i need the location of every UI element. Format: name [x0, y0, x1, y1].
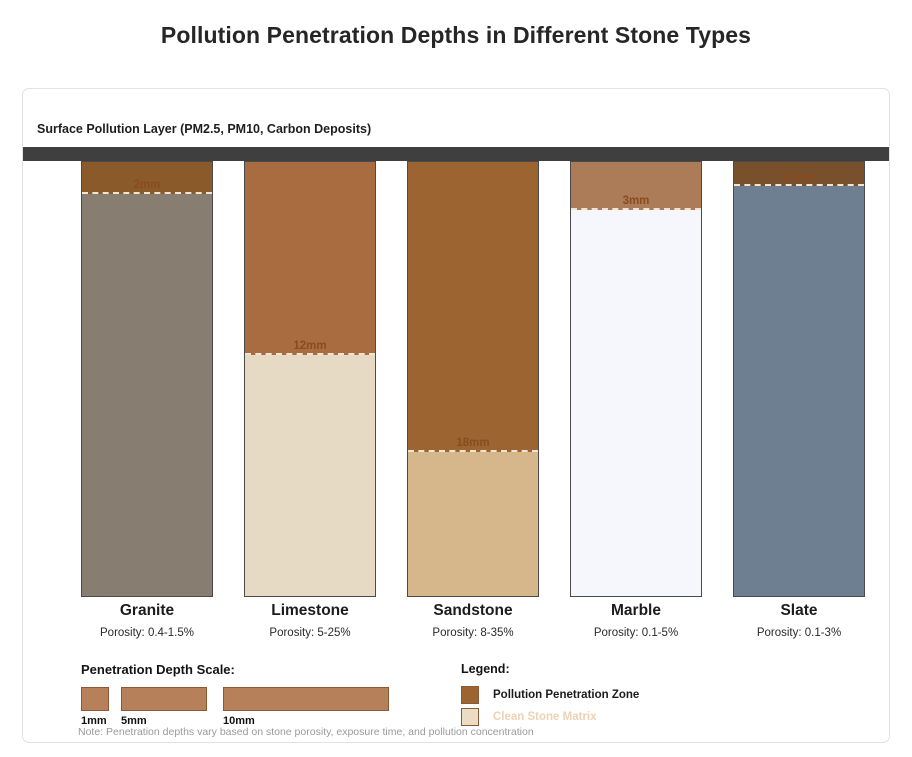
stone-porosity: Porosity: 0.1-5% [561, 624, 711, 642]
pollution-penetration-zone: 1.5mm [734, 162, 864, 186]
pollution-penetration-zone: 2mm [82, 162, 212, 194]
stone-column-slate[interactable]: 1.5mm [733, 161, 865, 597]
stone-columns: 2mm12mm18mm3mm1.5mm [23, 161, 889, 597]
scale-title: Penetration Depth Scale: [81, 662, 441, 677]
chart-page: Pollution Penetration Depths in Differen… [0, 0, 912, 757]
stone-porosity: Porosity: 0.4-1.5% [72, 624, 222, 642]
clean-stone-matrix [734, 184, 864, 596]
legend-items: Pollution Penetration ZoneClean Stone Ma… [461, 684, 639, 728]
legend-title: Legend: [461, 662, 639, 676]
stone-caption-limestone: LimestonePorosity: 5-25% [235, 601, 385, 642]
stone-column-sandstone[interactable]: 18mm [407, 161, 539, 597]
stone-name: Marble [561, 601, 711, 621]
clean-stone-matrix [245, 353, 375, 596]
stone-name: Sandstone [398, 601, 548, 621]
legend-item[interactable]: Pollution Penetration Zone [461, 684, 639, 706]
stone-porosity: Porosity: 0.1-3% [724, 624, 874, 642]
depth-value-label: 3mm [623, 195, 650, 210]
legend-label: Clean Stone Matrix [493, 711, 597, 723]
depth-value-label: 2mm [134, 179, 161, 194]
penetration-depth-scale: Penetration Depth Scale: 1mm5mm10mm [81, 662, 441, 731]
scale-bar-1mm [81, 687, 109, 711]
pollution-penetration-zone: 18mm [408, 162, 538, 452]
stone-porosity: Porosity: 5-25% [235, 624, 385, 642]
legend-label: Pollution Penetration Zone [493, 689, 639, 701]
diagram-card: Surface Pollution Layer (PM2.5, PM10, Ca… [22, 88, 890, 743]
stone-caption-sandstone: SandstonePorosity: 8-35% [398, 601, 548, 642]
stone-column-granite[interactable]: 2mm [81, 161, 213, 597]
stone-column-marble[interactable]: 3mm [570, 161, 702, 597]
depth-value-label: 12mm [293, 340, 326, 355]
scale-bars [81, 687, 441, 713]
pollution-penetration-zone: 3mm [571, 162, 701, 210]
scale-bar-5mm [121, 687, 207, 711]
stone-porosity: Porosity: 8-35% [398, 624, 548, 642]
depth-value-label: 1.5mm [781, 171, 817, 186]
clean-stone-matrix [571, 208, 701, 596]
stone-caption-marble: MarblePorosity: 0.1-5% [561, 601, 711, 642]
page-title: Pollution Penetration Depths in Differen… [0, 22, 912, 49]
clean-stone-matrix [82, 192, 212, 596]
clean-stone-matrix [408, 450, 538, 596]
stone-name: Granite [72, 601, 222, 621]
stone-name: Slate [724, 601, 874, 621]
legend-item[interactable]: Clean Stone Matrix [461, 706, 639, 728]
stone-name: Limestone [235, 601, 385, 621]
legend: Legend: Pollution Penetration ZoneClean … [461, 662, 639, 728]
stone-column-limestone[interactable]: 12mm [244, 161, 376, 597]
surface-pollution-layer-label: Surface Pollution Layer (PM2.5, PM10, Ca… [37, 122, 371, 136]
legend-swatch-icon [461, 708, 479, 726]
depth-value-label: 18mm [456, 437, 489, 452]
scale-bar-10mm [223, 687, 389, 711]
stone-caption-granite: GranitePorosity: 0.4-1.5% [72, 601, 222, 642]
legend-swatch-icon [461, 686, 479, 704]
pollution-penetration-zone: 12mm [245, 162, 375, 355]
surface-pollution-bar [23, 147, 889, 161]
stone-caption-slate: SlatePorosity: 0.1-3% [724, 601, 874, 642]
